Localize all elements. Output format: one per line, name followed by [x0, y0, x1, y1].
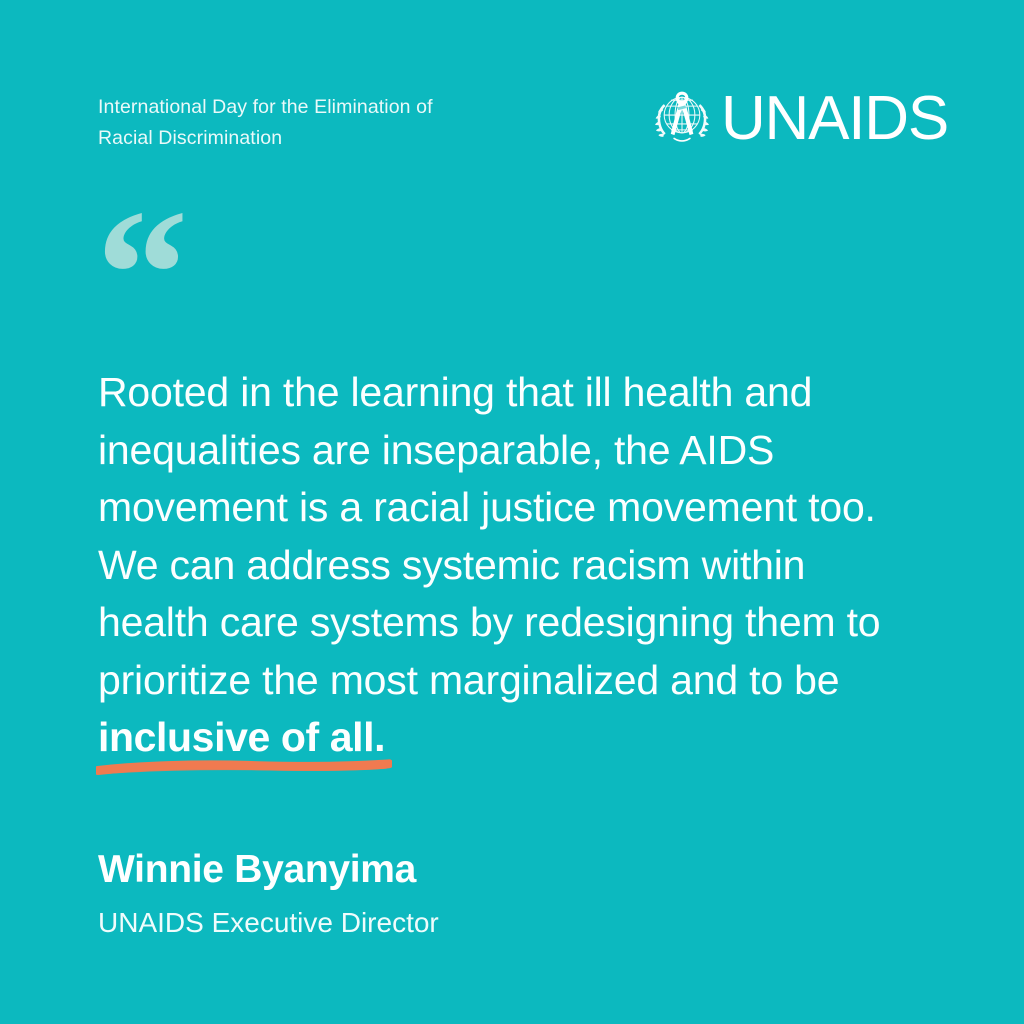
attribution-block: Winnie Byanyima UNAIDS Executive Directo…: [98, 845, 439, 943]
quote-line: prioritize the most marginalized and to …: [98, 652, 928, 710]
unaids-wordmark: UNAIDS: [721, 88, 948, 150]
open-quote-mark: “: [96, 182, 191, 367]
quote-emphasis-line: inclusive of all.: [98, 709, 385, 767]
quote-line: inequalities are inseparable, the AIDS: [98, 422, 928, 480]
card-header: International Day for the Elimination of…: [98, 92, 948, 154]
quote-line: We can address systemic racism within: [98, 537, 928, 595]
quote-line: Rooted in the learning that ill health a…: [98, 364, 928, 422]
quote-line: movement is a racial justice movement to…: [98, 479, 928, 537]
quote-text: Rooted in the learning that ill health a…: [98, 364, 928, 767]
author-name: Winnie Byanyima: [98, 845, 439, 895]
quote-card: International Day for the Elimination of…: [0, 0, 1024, 1024]
unaids-logo: UNAIDS: [649, 86, 948, 152]
un-aids-emblem-icon: [649, 86, 715, 152]
quote-line: health care systems by redesigning them …: [98, 594, 928, 652]
author-title: UNAIDS Executive Director: [98, 903, 439, 943]
occasion-title: International Day for the Elimination of…: [98, 92, 433, 154]
